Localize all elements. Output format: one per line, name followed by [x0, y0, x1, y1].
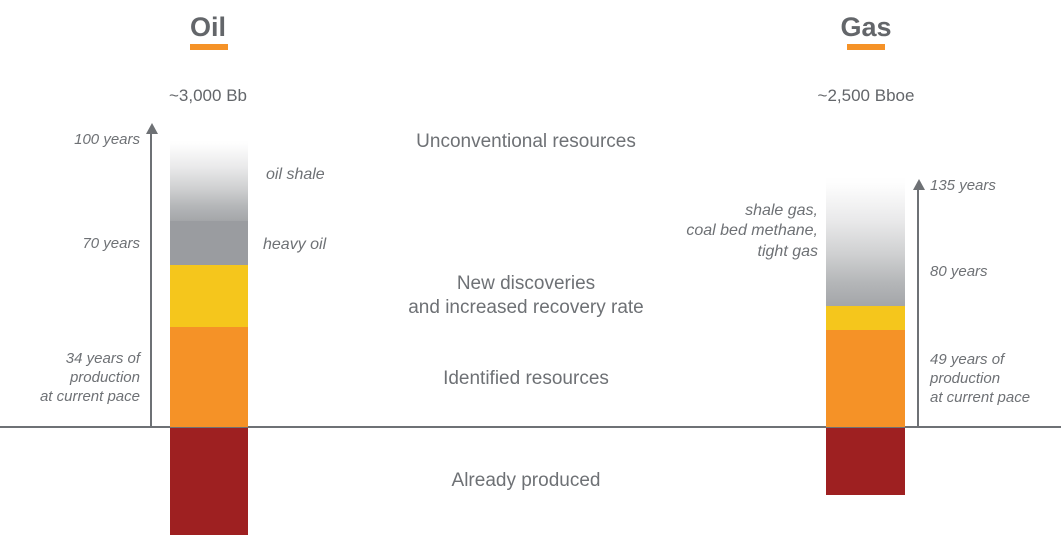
label-new-discoveries-line2: and increased recovery rate [326, 296, 726, 320]
oil-segment-heavy-oil [170, 221, 248, 265]
infographic-canvas: Oil ~3,000 Bb Gas ~2,500 Bboe 100 years … [0, 0, 1061, 535]
gas-axis-tick-base-line2: production [930, 369, 1061, 388]
oil-axis-arrow-icon [146, 123, 158, 134]
gas-axis-tick-base-line3: at current pace [930, 388, 1061, 407]
gas-title-underline [847, 44, 885, 50]
gas-axis-tick-base-line1: 49 years of [930, 350, 1061, 369]
oil-axis-line [150, 133, 152, 427]
oil-axis-tick-base-line3: at current pace [0, 387, 140, 406]
gas-unconventional-line1: shale gas, [600, 201, 818, 221]
gas-axis-arrow-icon [913, 179, 925, 190]
label-new-discoveries: New discoveries and increased recovery r… [326, 272, 726, 321]
label-already-produced: Already produced [326, 469, 726, 493]
oil-axis-tick-100: 100 years [0, 130, 140, 149]
oil-segment-already-produced [170, 428, 248, 535]
heavy-oil-label: heavy oil [263, 235, 423, 255]
oil-shale-label: oil shale [266, 165, 426, 185]
oil-segment-identified [170, 327, 248, 427]
gas-axis-tick-135: 135 years [930, 176, 1061, 195]
gas-segment-identified [826, 330, 905, 427]
label-new-discoveries-line1: New discoveries [326, 272, 726, 296]
oil-axis-tick-base: 34 years of production at current pace [0, 349, 140, 407]
gas-segment-already-produced [826, 428, 905, 495]
oil-volume-label: ~3,000 Bb [140, 86, 276, 106]
gas-axis-tick-80: 80 years [930, 262, 1061, 281]
oil-axis-tick-base-line1: 34 years of [0, 349, 140, 368]
gas-axis-tick-base: 49 years of production at current pace [930, 350, 1061, 408]
gas-volume-label: ~2,500 Bboe [798, 86, 934, 106]
gas-segment-unconventional [826, 177, 905, 306]
gas-unconventional-line2: coal bed methane, [600, 221, 818, 241]
oil-axis-tick-base-line2: production [0, 368, 140, 387]
oil-axis-tick-70: 70 years [0, 234, 140, 253]
gas-unconventional-label: shale gas, coal bed methane, tight gas [600, 201, 818, 262]
gas-unconventional-line3: tight gas [600, 242, 818, 262]
oil-title: Oil [158, 12, 258, 42]
oil-title-underline [190, 44, 228, 50]
oil-segment-unconventional [170, 140, 248, 221]
label-unconventional-resources: Unconventional resources [326, 130, 726, 154]
gas-title: Gas [816, 12, 916, 42]
oil-segment-new-discoveries [170, 265, 248, 327]
gas-axis-line [917, 189, 919, 427]
gas-segment-new-discoveries [826, 306, 905, 330]
label-identified-resources: Identified resources [326, 367, 726, 391]
